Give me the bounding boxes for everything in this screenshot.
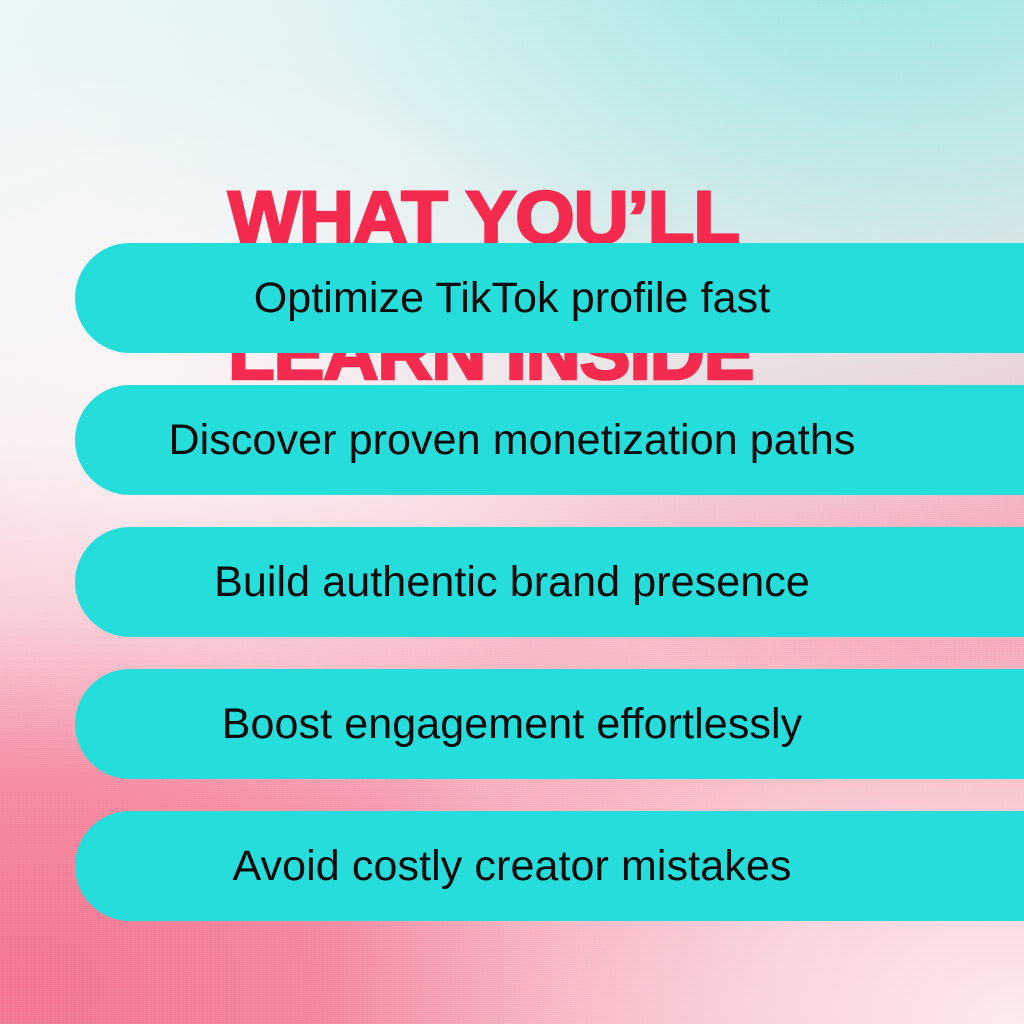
benefit-label-1: Optimize TikTok profile fast (75, 274, 949, 323)
benefit-label-5: Avoid costly creator mistakes (75, 842, 949, 891)
headline-line-1: WHAT YOU’LL (228, 184, 1011, 252)
benefit-list: Optimize TikTok profile fast Discover pr… (0, 243, 1024, 921)
promo-graphic-canvas: WHAT YOU’LL LEARN INSIDE Optimize TikTok… (0, 0, 1024, 1024)
benefit-label-2: Discover proven monetization paths (75, 416, 949, 465)
list-item[interactable]: Build authentic brand presence (75, 527, 1024, 637)
list-item[interactable]: Discover proven monetization paths (75, 385, 1024, 495)
benefit-label-3: Build authentic brand presence (75, 558, 949, 607)
benefit-label-4: Boost engagement effortlessly (75, 700, 949, 749)
list-item[interactable]: Avoid costly creator mistakes (75, 811, 1024, 921)
list-item[interactable]: Optimize TikTok profile fast (75, 243, 1024, 353)
list-item[interactable]: Boost engagement effortlessly (75, 669, 1024, 779)
